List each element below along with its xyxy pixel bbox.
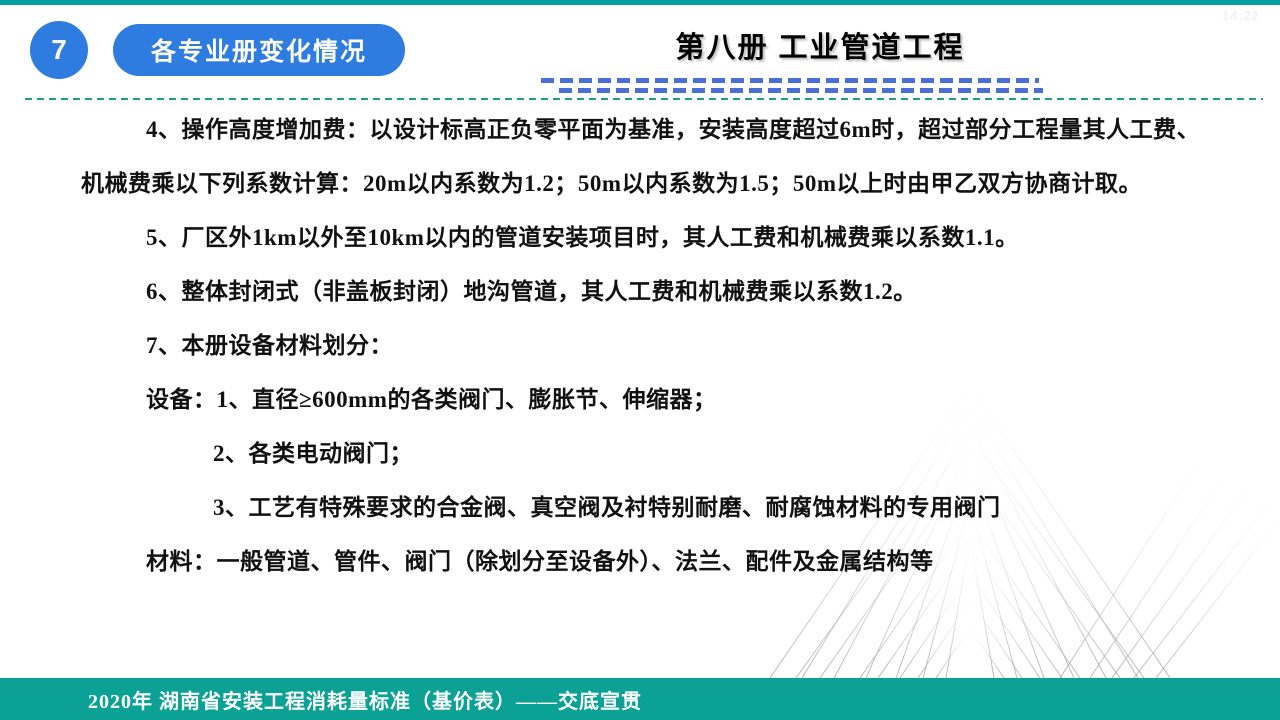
slide-footer: 2020年 湖南省安装工程消耗量标准（基价表）——交底宣贯 [0, 678, 1280, 720]
body-line-materials: 材料：一般管道、管件、阀门（除划分至设备外）、法兰、配件及金属结构等 [146, 542, 934, 576]
body-line-equipment-2: 2、各类电动阀门； [213, 434, 413, 468]
slide-header: 7 各专业册变化情况 第八册 工业管道工程 14:22 [0, 0, 1280, 100]
section-number-badge: 7 [30, 21, 88, 79]
header-divider [25, 98, 1263, 100]
body-line-item-4-line-2: 机械费乘以下列系数计算：20m以内系数为1.2；50m以内系数为1.5；50m以… [81, 164, 1142, 198]
slide-canvas: 7 各专业册变化情况 第八册 工业管道工程 14:22 4、操作高度增加费：以设… [0, 0, 1280, 720]
slide-body: 4、操作高度增加费：以设计标高正负零平面为基准，安装高度超过6m时，超过部分工程… [0, 110, 1280, 670]
body-line-item-6: 6、整体封闭式（非盖板封闭）地沟管道，其人工费和机械费乘以系数1.2。 [146, 272, 917, 306]
page-title: 第八册 工业管道工程 [560, 24, 1080, 66]
clock-timestamp: 14:22 [1222, 8, 1260, 23]
section-label-pill: 各专业册变化情况 [113, 24, 405, 76]
body-line-equipment-3: 3、工艺有特殊要求的合金阀、真空阀及衬特别耐磨、耐腐蚀材料的专用阀门 [213, 488, 1001, 522]
title-underline-dash-top [541, 78, 1039, 83]
body-line-equipment-1: 设备：1、直径≥600mm的各类阀门、膨胀节、伸缩器； [146, 380, 716, 414]
body-line-item-4-line-1: 4、操作高度增加费：以设计标高正负零平面为基准，安装高度超过6m时，超过部分工程… [146, 110, 1200, 144]
footer-text: 2020年 湖南省安装工程消耗量标准（基价表）——交底宣贯 [88, 685, 642, 714]
title-underline-dash-bottom [559, 88, 1043, 93]
body-line-item-5: 5、厂区外1km以外至10km以内的管道安装项目时，其人工费和机械费乘以系数1.… [146, 218, 1019, 252]
body-line-item-7: 7、本册设备材料划分： [146, 326, 393, 360]
